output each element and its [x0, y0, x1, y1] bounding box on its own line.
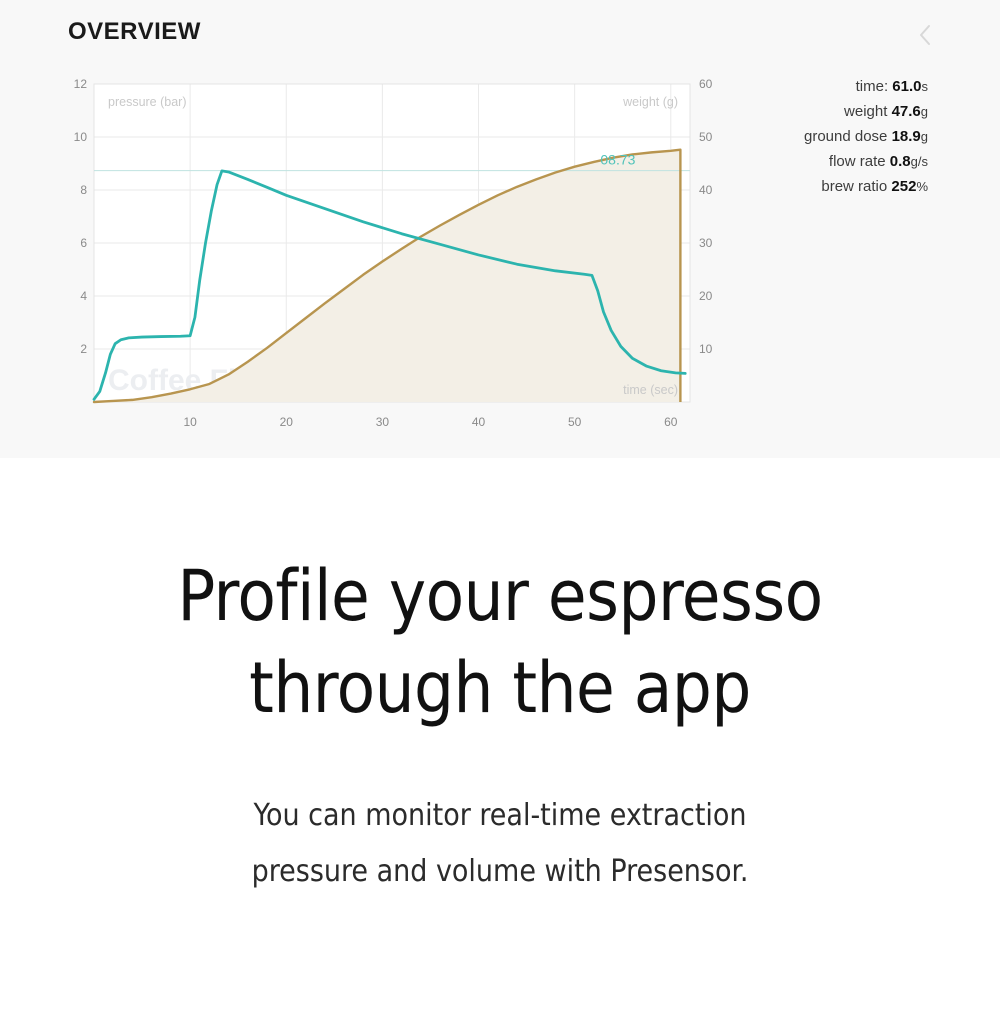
promo-headline-line-1: Profile your espresso	[0, 550, 1000, 642]
promo-headline-line-2: through the app	[0, 642, 1000, 734]
svg-text:20: 20	[280, 415, 294, 429]
stat-unit: s	[922, 79, 929, 94]
svg-text:10: 10	[183, 415, 197, 429]
promo-sub-line-1: You can monitor real-time extraction	[0, 788, 1000, 844]
svg-text:10: 10	[699, 342, 713, 356]
stat-unit: g	[921, 129, 928, 144]
stat-value: 61.0	[892, 78, 921, 95]
stat-value: 252	[891, 178, 916, 195]
svg-text:60: 60	[664, 415, 678, 429]
svg-text:60: 60	[699, 77, 713, 91]
svg-text:weight (g): weight (g)	[622, 95, 678, 109]
promo-section: Profile your espresso through the app Yo…	[0, 458, 1000, 1032]
chart-canvas: Coffee Flow08.73246810121020304050601020…	[68, 72, 740, 434]
stat-value: 0.8	[890, 153, 911, 170]
promo-headline: Profile your espresso through the app	[0, 550, 1000, 734]
svg-text:8: 8	[80, 183, 87, 197]
stat-row-time: time: 61.0s	[728, 74, 928, 99]
stat-label: weight	[844, 103, 887, 120]
stat-label: brew ratio	[821, 178, 887, 195]
stat-row-ground-dose: ground dose 18.9g	[728, 124, 928, 149]
svg-text:4: 4	[80, 289, 87, 303]
stat-unit: %	[916, 179, 928, 194]
svg-text:2: 2	[80, 342, 87, 356]
svg-text:20: 20	[699, 289, 713, 303]
overview-panel: OVERVIEW Coffee Flow08.73246810121020304…	[0, 0, 1000, 458]
svg-text:50: 50	[568, 415, 582, 429]
extraction-chart[interactable]: Coffee Flow08.73246810121020304050601020…	[68, 72, 740, 434]
svg-text:40: 40	[472, 415, 486, 429]
promo-sub-line-2: pressure and volume with Presensor.	[0, 844, 1000, 900]
svg-text:12: 12	[74, 77, 88, 91]
stat-unit: g	[921, 104, 928, 119]
stat-row-flow-rate: flow rate 0.8g/s	[728, 149, 928, 174]
stat-row-brew-ratio: brew ratio 252%	[728, 174, 928, 199]
chevron-left-icon[interactable]	[912, 22, 938, 48]
panel-header: OVERVIEW	[68, 18, 940, 52]
stat-value: 18.9	[892, 128, 921, 145]
svg-text:6: 6	[80, 236, 87, 250]
page-title: OVERVIEW	[68, 18, 201, 45]
stat-label: ground dose	[804, 128, 887, 145]
svg-text:10: 10	[74, 130, 88, 144]
stat-row-weight: weight 47.6g	[728, 99, 928, 124]
svg-text:30: 30	[699, 236, 713, 250]
stats-panel: time: 61.0s weight 47.6g ground dose 18.…	[728, 74, 928, 199]
svg-text:40: 40	[699, 183, 713, 197]
stat-unit: g/s	[911, 154, 928, 169]
promo-subheadline: You can monitor real-time extraction pre…	[0, 788, 1000, 900]
svg-text:08.73: 08.73	[600, 152, 635, 168]
stat-label: flow rate	[829, 153, 886, 170]
svg-text:time (sec): time (sec)	[623, 383, 678, 397]
stat-label: time:	[856, 78, 889, 95]
stat-value: 47.6	[892, 103, 921, 120]
svg-text:50: 50	[699, 130, 713, 144]
svg-text:pressure (bar): pressure (bar)	[108, 95, 187, 109]
svg-text:30: 30	[376, 415, 390, 429]
